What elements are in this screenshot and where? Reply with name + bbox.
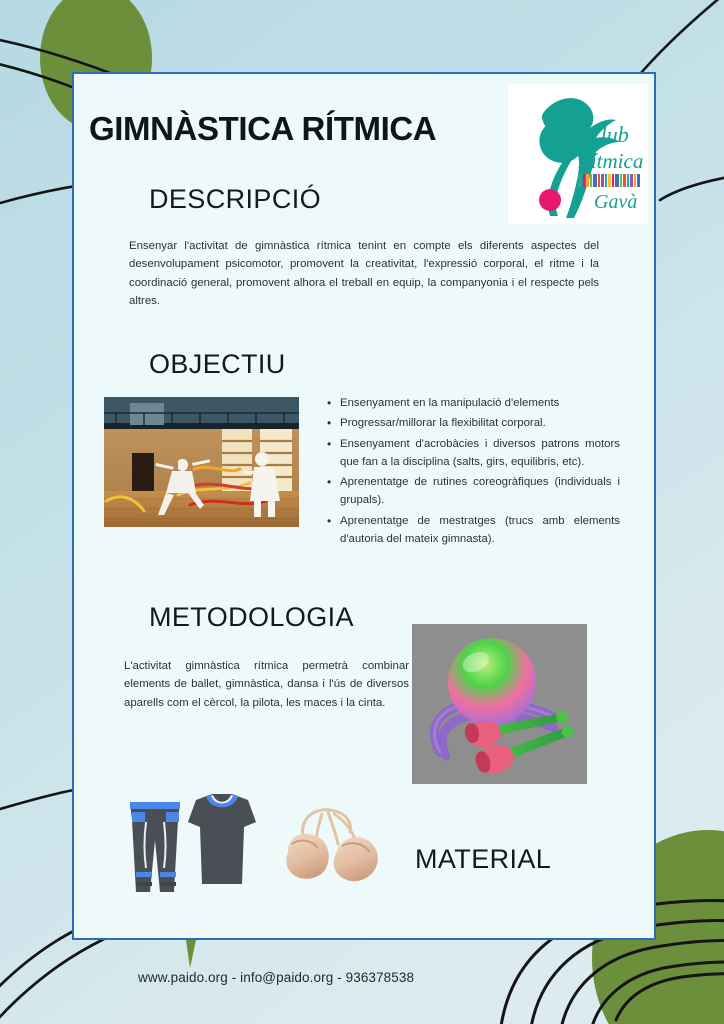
list-item: Aprenentatge de rutines coreogràfiques (… xyxy=(340,473,620,510)
objectiu-bullet-list: Ensenyament en la manipulació d'elements… xyxy=(322,394,620,550)
list-item: Progressar/millorar la flexibilitat corp… xyxy=(340,414,620,432)
right-shoe xyxy=(334,837,378,881)
logo-line-gava: Gavà xyxy=(594,191,637,213)
gymnasts-with-ribbons-photo xyxy=(104,397,299,527)
barcode-strip-icon xyxy=(578,174,640,187)
logo-line-ritmica: Rítmica xyxy=(577,149,643,173)
section-heading-material: MATERIAL xyxy=(415,846,551,873)
section-heading-objectiu: OBJECTIU xyxy=(149,351,286,378)
section-heading-metodologia: METODOLOGIA xyxy=(149,604,354,631)
pink-ball-icon xyxy=(539,189,561,211)
list-item: Ensenyament d'acrobàcies i diversos patr… xyxy=(340,435,620,472)
list-item: Ensenyament en la manipulació d'elements xyxy=(340,394,620,412)
content-card: GIMNÀSTICA RÍTMICA Club Rítmica xyxy=(72,72,656,940)
club-ritmica-gava-logo: Club Rítmica xyxy=(508,84,648,224)
gymnastics-ball-rope-clubs-photo xyxy=(412,624,587,784)
section-paragraph-descripcio: Ensenyar l'activitat de gimnàstica rítmi… xyxy=(129,237,599,311)
section-heading-descripcio: DESCRIPCIÓ xyxy=(149,186,321,213)
pants-icon xyxy=(130,802,180,892)
tshirt-icon xyxy=(188,794,256,884)
page-title: GIMNÀSTICA RÍTMICA xyxy=(89,112,549,145)
left-shoe xyxy=(286,834,329,879)
list-item: Aprenentatge de mestratges (trucs amb el… xyxy=(340,512,620,549)
ballet-half-shoes-icon xyxy=(266,800,406,892)
section-paragraph-metodologia: L'activitat gimnàstica rítmica permetrà … xyxy=(124,657,409,712)
footer-contact: www.paido.org - info@paido.org - 9363785… xyxy=(138,970,414,985)
sportswear-tshirt-and-pants-icon xyxy=(122,792,262,896)
poster: GIMNÀSTICA RÍTMICA Club Rítmica xyxy=(0,0,724,1024)
logo-line-club: Club xyxy=(586,122,629,147)
